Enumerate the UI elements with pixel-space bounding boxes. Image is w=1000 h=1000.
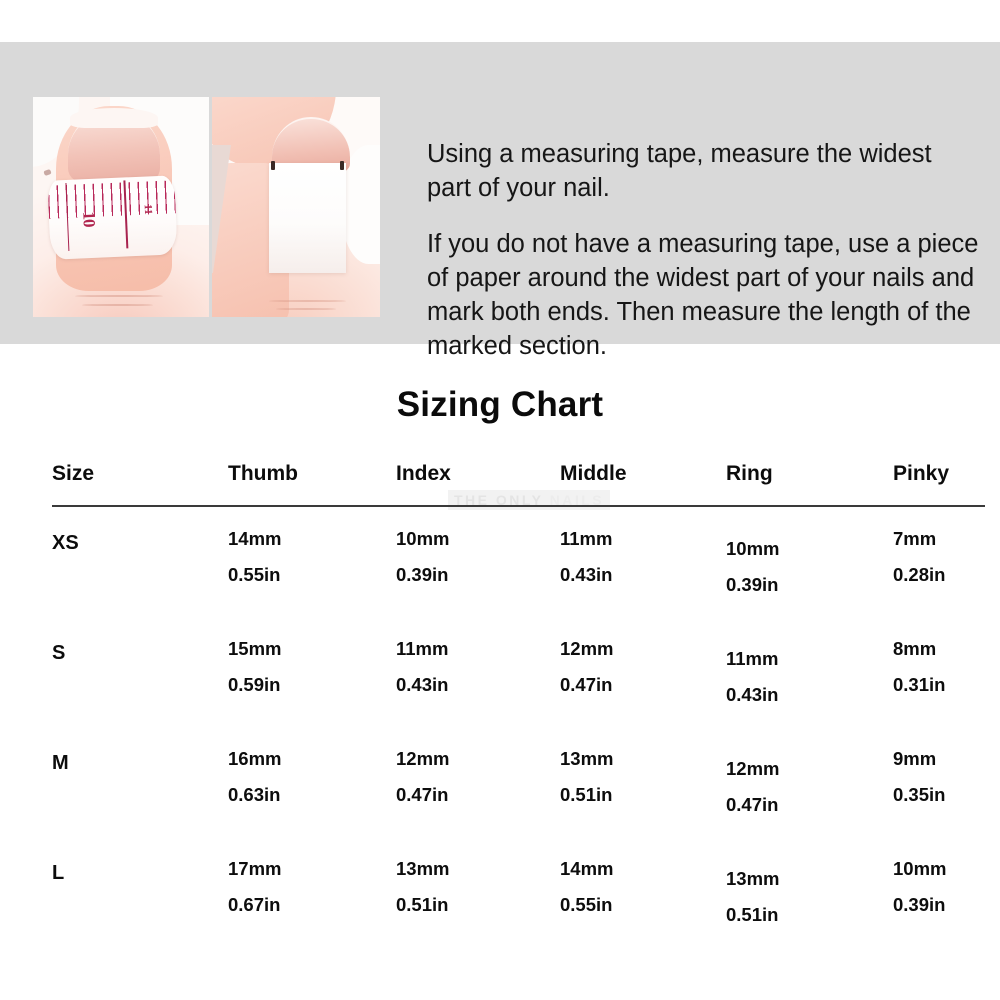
nail-tip bbox=[70, 108, 158, 128]
column-header-size: Size bbox=[52, 462, 172, 486]
value-mm: 17mm bbox=[228, 858, 378, 880]
table-cell-s-index: 11mm 0.43in bbox=[396, 638, 546, 696]
knuckle-crease bbox=[269, 300, 346, 302]
tape-number-label: 10 bbox=[78, 212, 99, 228]
value-in: 0.47in bbox=[396, 784, 546, 806]
instruction-text: Using a measuring tape, measure the wide… bbox=[427, 138, 979, 363]
column-header-pinky: Pinky bbox=[893, 462, 1000, 486]
value-mm: 11mm bbox=[396, 638, 546, 660]
value-mm: 10mm bbox=[396, 528, 546, 550]
value-mm: 7mm bbox=[893, 528, 1000, 550]
column-header-middle: Middle bbox=[560, 462, 710, 486]
table-cell-xs-index: 10mm 0.39in bbox=[396, 528, 546, 586]
photo-measuring-tape-on-thumb: 10 11 bbox=[33, 97, 209, 317]
table-cell-s-pinky: 8mm 0.31in bbox=[893, 638, 1000, 696]
instruction-photo-pair: 10 11 bbox=[33, 97, 380, 317]
value-in: 0.51in bbox=[560, 784, 710, 806]
table-row-label-s: S bbox=[52, 642, 65, 665]
value-mm: 14mm bbox=[560, 858, 710, 880]
value-in: 0.43in bbox=[396, 674, 546, 696]
column-header-ring: Ring bbox=[726, 462, 876, 486]
value-in: 0.35in bbox=[893, 784, 1000, 806]
table-cell-m-thumb: 16mm 0.63in bbox=[228, 748, 378, 806]
value-in: 0.43in bbox=[726, 684, 876, 706]
value-in: 0.67in bbox=[228, 894, 378, 916]
value-mm: 11mm bbox=[726, 648, 876, 670]
value-in: 0.39in bbox=[726, 574, 876, 596]
table-cell-l-index: 13mm 0.51in bbox=[396, 858, 546, 916]
value-in: 0.59in bbox=[228, 674, 378, 696]
value-mm: 13mm bbox=[726, 868, 876, 890]
value-in: 0.51in bbox=[396, 894, 546, 916]
value-in: 0.39in bbox=[396, 564, 546, 586]
tape-number-label-secondary: 11 bbox=[141, 204, 153, 215]
value-in: 0.43in bbox=[560, 564, 710, 586]
value-mm: 13mm bbox=[560, 748, 710, 770]
value-mm: 11mm bbox=[560, 528, 710, 550]
value-mm: 9mm bbox=[893, 748, 1000, 770]
page-title: Sizing Chart bbox=[0, 385, 1000, 425]
table-cell-m-index: 12mm 0.47in bbox=[396, 748, 546, 806]
table-cell-l-ring: 13mm 0.51in bbox=[726, 868, 876, 926]
table-row-label-xs: XS bbox=[52, 532, 79, 555]
instruction-paragraph-2: If you do not have a measuring tape, use… bbox=[427, 228, 979, 364]
value-in: 0.28in bbox=[893, 564, 1000, 586]
table-cell-s-middle: 12mm 0.47in bbox=[560, 638, 710, 696]
value-mm: 16mm bbox=[228, 748, 378, 770]
table-cell-l-thumb: 17mm 0.67in bbox=[228, 858, 378, 916]
value-mm: 15mm bbox=[228, 638, 378, 660]
instruction-band: 10 11 bbox=[0, 42, 1000, 344]
measuring-tape: 10 11 bbox=[47, 176, 177, 261]
value-in: 0.63in bbox=[228, 784, 378, 806]
table-cell-m-ring: 12mm 0.47in bbox=[726, 758, 876, 816]
table-cell-m-middle: 13mm 0.51in bbox=[560, 748, 710, 806]
value-mm: 13mm bbox=[396, 858, 546, 880]
value-mm: 12mm bbox=[726, 758, 876, 780]
value-in: 0.55in bbox=[560, 894, 710, 916]
table-cell-xs-pinky: 7mm 0.28in bbox=[893, 528, 1000, 586]
table-cell-xs-middle: 11mm 0.43in bbox=[560, 528, 710, 586]
value-in: 0.31in bbox=[893, 674, 1000, 696]
value-mm: 12mm bbox=[396, 748, 546, 770]
value-in: 0.47in bbox=[560, 674, 710, 696]
value-mm: 10mm bbox=[726, 538, 876, 560]
header-divider bbox=[52, 505, 985, 507]
sizing-chart-page: 10 11 bbox=[0, 0, 1000, 1000]
table-cell-xs-thumb: 14mm 0.55in bbox=[228, 528, 378, 586]
value-in: 0.55in bbox=[228, 564, 378, 586]
table-cell-s-ring: 11mm 0.43in bbox=[726, 648, 876, 706]
table-row-label-l: L bbox=[52, 862, 64, 885]
value-mm: 14mm bbox=[228, 528, 378, 550]
table-cell-l-middle: 14mm 0.55in bbox=[560, 858, 710, 916]
table-row-label-m: M bbox=[52, 752, 69, 775]
sizing-table: Size Thumb Index Middle Ring Pinky THE O… bbox=[0, 462, 1000, 942]
paper-mark-right bbox=[340, 161, 344, 170]
table-cell-l-pinky: 10mm 0.39in bbox=[893, 858, 1000, 916]
photo-paper-strip-on-nail bbox=[212, 97, 380, 317]
table-cell-xs-ring: 10mm 0.39in bbox=[726, 538, 876, 596]
column-header-index: Index bbox=[396, 462, 546, 486]
paper-strip bbox=[269, 163, 346, 273]
paper-mark-left bbox=[271, 161, 275, 170]
value-in: 0.51in bbox=[726, 904, 876, 926]
column-header-thumb: Thumb bbox=[228, 462, 378, 486]
watermark: THE ONLY NAILS bbox=[448, 490, 610, 510]
value-mm: 10mm bbox=[893, 858, 1000, 880]
value-mm: 12mm bbox=[560, 638, 710, 660]
value-in: 0.39in bbox=[893, 894, 1000, 916]
instruction-paragraph-1: Using a measuring tape, measure the wide… bbox=[427, 138, 979, 206]
value-mm: 8mm bbox=[893, 638, 1000, 660]
value-in: 0.47in bbox=[726, 794, 876, 816]
knuckle-crease bbox=[82, 304, 152, 306]
table-cell-m-pinky: 9mm 0.35in bbox=[893, 748, 1000, 806]
table-cell-s-thumb: 15mm 0.59in bbox=[228, 638, 378, 696]
